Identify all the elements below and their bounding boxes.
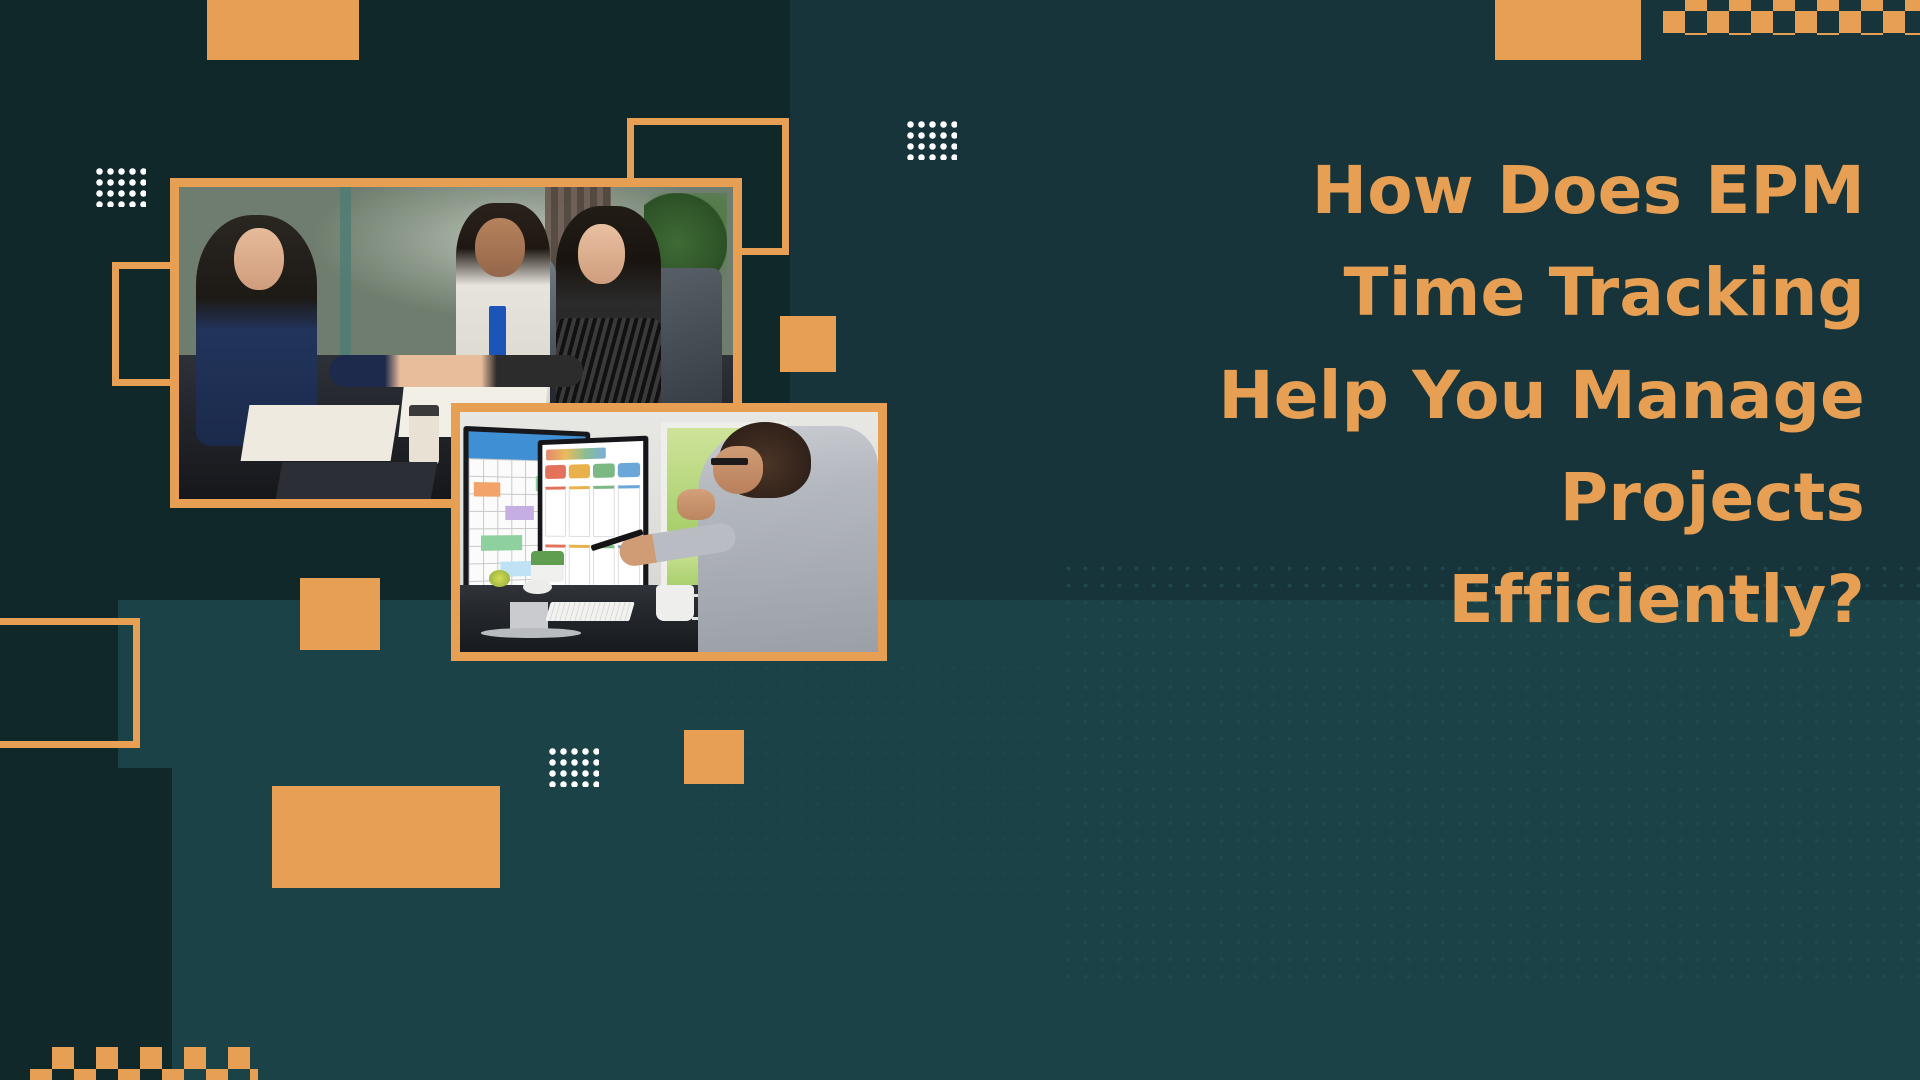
woman-face — [713, 446, 763, 494]
dot-texture-mid — [690, 660, 1050, 890]
title-line-2: Time Tracking — [1145, 242, 1865, 344]
calendar-event — [505, 505, 533, 520]
woman-pinstripe-face — [578, 224, 625, 283]
monitor-stand-base — [481, 628, 581, 638]
kanban-column-header — [545, 465, 566, 480]
orange-block-top-left — [207, 0, 359, 60]
kanban-column-header — [618, 462, 640, 477]
kanban-app-header — [546, 448, 605, 461]
coffee-mug — [656, 585, 694, 621]
woman-navy-face — [234, 228, 284, 290]
checkerboard-bottom-left — [30, 1047, 258, 1080]
monitor-stand — [510, 602, 548, 631]
document-stack-left — [241, 405, 399, 461]
background-block-lower-left-dark — [0, 768, 172, 1080]
woman-at-monitor-calendar-photo — [451, 403, 887, 661]
laptop-left — [275, 462, 437, 499]
kanban-card — [593, 486, 615, 538]
title-line-3: Help You Manage — [1145, 345, 1865, 447]
white-dot-grid-bottom — [546, 745, 599, 787]
kanban-card — [569, 486, 590, 537]
checkerboard-top-right — [1663, 0, 1920, 35]
title-line-4: Projects — [1145, 447, 1865, 549]
white-dot-grid-left — [93, 165, 146, 207]
calendar-event — [474, 482, 501, 497]
kanban-card — [545, 487, 566, 537]
orange-square-bottom-mid — [684, 730, 744, 784]
kanban-column-header — [569, 464, 590, 479]
kanban-column — [593, 463, 615, 597]
coffee-cup — [409, 405, 439, 464]
monitor-kanban — [538, 436, 648, 609]
orange-block-bottom-left — [272, 786, 500, 888]
orange-frame-bottom-left — [0, 618, 140, 748]
resting-hand — [677, 489, 715, 520]
kanban-column-header — [593, 463, 615, 478]
page-title: How Does EPM Time Tracking Help You Mana… — [1145, 140, 1865, 651]
small-potted-plant — [531, 551, 564, 582]
window-mullion — [340, 187, 352, 362]
man-face — [475, 218, 525, 277]
title-line-1: How Does EPM — [1145, 140, 1865, 242]
eyeglasses — [711, 458, 749, 465]
white-dot-grid-center-top — [904, 118, 957, 160]
poster-canvas: How Does EPM Time Tracking Help You Mana… — [0, 0, 1920, 1080]
kanban-column — [569, 464, 590, 597]
orange-block-top-right — [1495, 0, 1641, 60]
keyboard — [545, 602, 634, 621]
handshake — [329, 355, 584, 386]
calendar-event — [481, 535, 522, 550]
orange-block-bottom-mid-left — [300, 578, 380, 650]
orange-square-mid-right — [780, 316, 836, 372]
title-line-5: Efficiently? — [1145, 549, 1865, 651]
